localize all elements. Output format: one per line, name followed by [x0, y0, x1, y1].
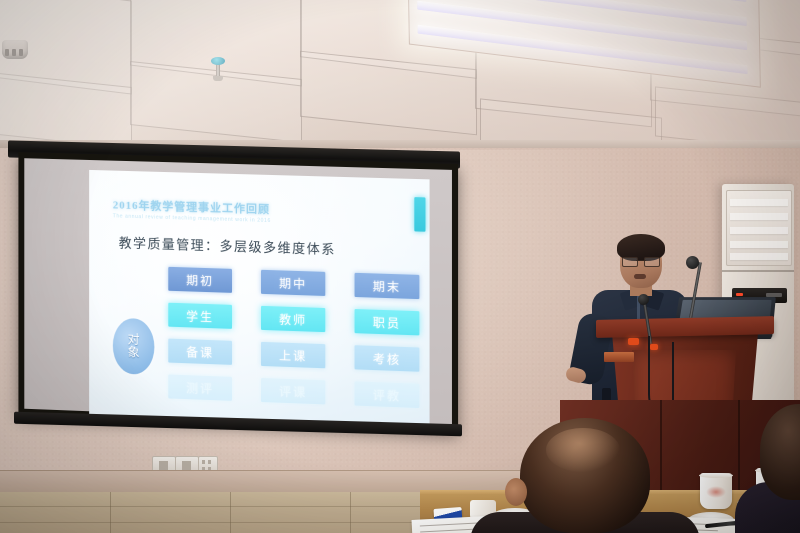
object-ellipse-label: 对 象 [113, 318, 155, 375]
matrix-cell: 上课 [261, 342, 325, 368]
matrix-cell: 期初 [168, 267, 232, 293]
matrix-cell: 期中 [261, 270, 325, 296]
matrix-cell: 测评 [168, 374, 232, 400]
projected-slide: 2016年教学管理事业工作回顾 The annual review of tea… [89, 170, 429, 430]
matrix-cell: 评课 [261, 378, 325, 404]
screen-surface: 2016年教学管理事业工作回顾 The annual review of tea… [24, 158, 452, 425]
slide-side-tab [414, 197, 425, 232]
attendee-head-center [520, 418, 650, 533]
screen-frame: 2016年教学管理事业工作回顾 The annual review of tea… [18, 152, 458, 432]
ceiling [0, 0, 800, 148]
mic-indicator-light [628, 338, 639, 345]
matrix-row-faded: 测评 评课 评教 [168, 374, 419, 408]
slide-matrix: 期初 期中 期末 学生 教师 职员 备课 上课 [168, 267, 419, 420]
ellipse-char-2: 象 [128, 346, 140, 359]
matrix-cell: 期末 [355, 273, 420, 299]
matrix-row-role: 学生 教师 职员 [168, 303, 419, 336]
podium-nameplate [604, 352, 634, 362]
microphone-head-right [686, 256, 699, 269]
glasses-icon [622, 257, 660, 265]
matrix-cell: 评教 [355, 381, 420, 408]
presentation-photo-scene: 2016年教学管理事业工作回顾 The annual review of tea… [0, 0, 800, 533]
matrix-cell: 教师 [261, 306, 325, 332]
matrix-cell: 备课 [168, 339, 232, 365]
panel-seam [660, 400, 662, 496]
presenter-mouth [634, 274, 646, 279]
panel-seam [738, 400, 740, 496]
slide-content: 2016年教学管理事业工作回顾 The annual review of tea… [89, 170, 429, 430]
ac-vent-icon [726, 190, 792, 266]
slide-heading: 教学质量管理：多层级多维度体系 [119, 232, 336, 258]
paper-cup [700, 473, 732, 509]
matrix-cell: 考核 [355, 345, 420, 372]
matrix-row-activity: 备课 上课 考核 [168, 339, 419, 372]
matrix-cell: 职员 [355, 309, 420, 335]
matrix-row-phase: 期初 期中 期末 [168, 267, 419, 299]
projection-screen: 2016年教学管理事业工作回顾 The annual review of tea… [8, 146, 478, 438]
microphone-head-left [638, 294, 649, 305]
attendee-ear [505, 478, 527, 506]
matrix-cell: 学生 [168, 303, 232, 329]
